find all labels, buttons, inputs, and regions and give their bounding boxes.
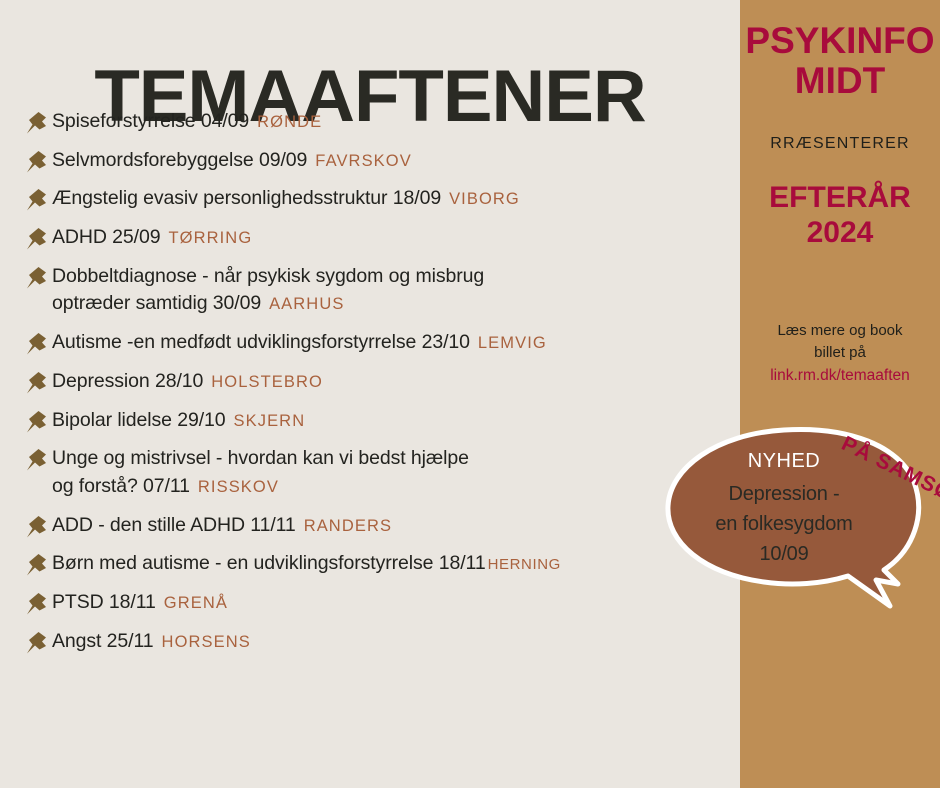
event-city: SKJERN [234,412,306,430]
pushpin-icon [22,447,52,473]
event-city: RISSKOV [198,478,279,496]
event-text: Unge og mistrivsel - hvordan kan vi beds… [52,445,469,500]
event-title: Børn med autisme - en udviklingsforstyrr… [52,552,486,574]
event-city: HORSENS [162,633,251,651]
list-item[interactable]: Unge og mistrivsel - hvordan kan vi beds… [22,445,742,500]
pushpin-icon [22,110,52,136]
booking-line2: billet på [814,344,866,361]
event-title: Autisme -en medfødt udviklingsforstyrrel… [52,331,470,353]
list-item[interactable]: PTSD 18/11GRENÅ [22,589,742,617]
event-text: Angst 25/11HORSENS [52,628,251,656]
event-text: Dobbeltdiagnose - når psykisk sygdom og … [52,263,484,318]
pushpin-icon [22,552,52,578]
event-title: Spiseforstyrrelse 04/09 [52,110,249,132]
event-text: PTSD 18/11GRENÅ [52,589,228,617]
event-title: PTSD 18/11 [52,591,156,613]
season-year-label: 2024 [740,218,940,249]
event-title: ADHD 25/09 [52,226,160,248]
event-title-line2-wrap: og forstå? 07/11RISSKOV [52,473,469,501]
booking-line1: Læs mere og book [777,322,902,339]
event-title: Selvmordsforebyggelse 09/09 [52,149,307,171]
event-city: LEMVIG [478,334,547,352]
event-title: Dobbeltdiagnose - når psykisk sygdom og … [52,265,484,287]
list-item[interactable]: Depression 28/10HOLSTEBRO [22,368,742,396]
event-text: Selvmordsforebyggelse 09/09FAVRSKOV [52,147,412,175]
list-item[interactable]: ADD - den stille ADHD 11/11RANDERS [22,512,742,540]
event-text: Ængstelig evasiv personlighedsstruktur 1… [52,185,520,213]
presenter-label: RRÆSENTERER [740,135,940,153]
booking-url-link[interactable]: link.rm.dk/temaaften [748,365,932,388]
event-title: Angst 25/11 [52,630,154,652]
event-city: AARHUS [269,295,344,313]
event-city: GRENÅ [164,594,228,612]
event-title: Bipolar lidelse 29/10 [52,409,226,431]
event-city: RØNDE [257,113,322,131]
brand-name-line2: MIDT [740,62,940,100]
list-item[interactable]: Børn med autisme - en udviklingsforstyrr… [22,550,742,578]
list-item[interactable]: Autisme -en medfødt udviklingsforstyrrel… [22,329,742,357]
event-list: Spiseforstyrrelse 04/09RØNDE Selvmordsfo… [22,108,742,666]
list-item[interactable]: Dobbeltdiagnose - når psykisk sygdom og … [22,263,742,318]
event-title-line2: optræder samtidig 30/09 [52,292,261,314]
pushpin-icon [22,370,52,396]
event-text: Bipolar lidelse 29/10SKJERN [52,407,305,435]
event-text: Børn med autisme - en udviklingsforstyrr… [52,550,561,578]
event-title: Depression 28/10 [52,370,203,392]
list-item[interactable]: Ængstelig evasiv personlighedsstruktur 1… [22,185,742,213]
event-text: Autisme -en medfødt udviklingsforstyrrel… [52,329,547,357]
event-text: ADD - den stille ADHD 11/11RANDERS [52,512,392,540]
list-item[interactable]: Selvmordsforebyggelse 09/09FAVRSKOV [22,147,742,175]
side-panel: PSYKINFO MIDT RRÆSENTERER EFTERÅR 2024 L… [740,0,940,788]
pushpin-icon [22,226,52,252]
event-text: Spiseforstyrrelse 04/09RØNDE [52,108,322,136]
event-title-line2-wrap: optræder samtidig 30/09AARHUS [52,290,484,318]
event-text: ADHD 25/09TØRRING [52,224,252,252]
list-item[interactable]: Angst 25/11HORSENS [22,628,742,656]
event-city: HERNING [488,556,561,573]
brand-name-line1: PSYKINFO [740,22,940,60]
pushpin-icon [22,514,52,540]
list-item[interactable]: Spiseforstyrrelse 04/09RØNDE [22,108,742,136]
event-city: RANDERS [304,517,392,535]
pushpin-icon [22,630,52,656]
pushpin-icon [22,331,52,357]
event-city: FAVRSKOV [315,152,412,170]
pushpin-icon [22,265,52,291]
event-title-line2: og forstå? 07/11 [52,475,190,497]
event-city: TØRRING [168,229,252,247]
poster-canvas: PSYKINFO MIDT RRÆSENTERER EFTERÅR 2024 L… [0,0,940,788]
event-title: Ængstelig evasiv personlighedsstruktur 1… [52,187,441,209]
news-speech-bubble[interactable]: NYHED Depression - en folkesygdom 10/09 … [652,424,940,639]
list-item[interactable]: Bipolar lidelse 29/10SKJERN [22,407,742,435]
bubble-line-3: 10/09 [676,539,892,569]
pushpin-icon [22,409,52,435]
event-city: HOLSTEBRO [211,373,323,391]
list-item[interactable]: ADHD 25/09TØRRING [22,224,742,252]
event-title: Unge og mistrivsel - hvordan kan vi beds… [52,447,469,469]
event-title: ADD - den stille ADHD 11/11 [52,514,296,536]
bubble-line-1: Depression - [676,479,892,509]
booking-info: Læs mere og book billet på link.rm.dk/te… [748,320,932,388]
bubble-line-2: en folkesygdom [676,509,892,539]
pushpin-icon [22,591,52,617]
pushpin-icon [22,149,52,175]
event-text: Depression 28/10HOLSTEBRO [52,368,323,396]
event-city: VIBORG [449,190,520,208]
season-label: EFTERÅR [740,183,940,214]
pushpin-icon [22,187,52,213]
